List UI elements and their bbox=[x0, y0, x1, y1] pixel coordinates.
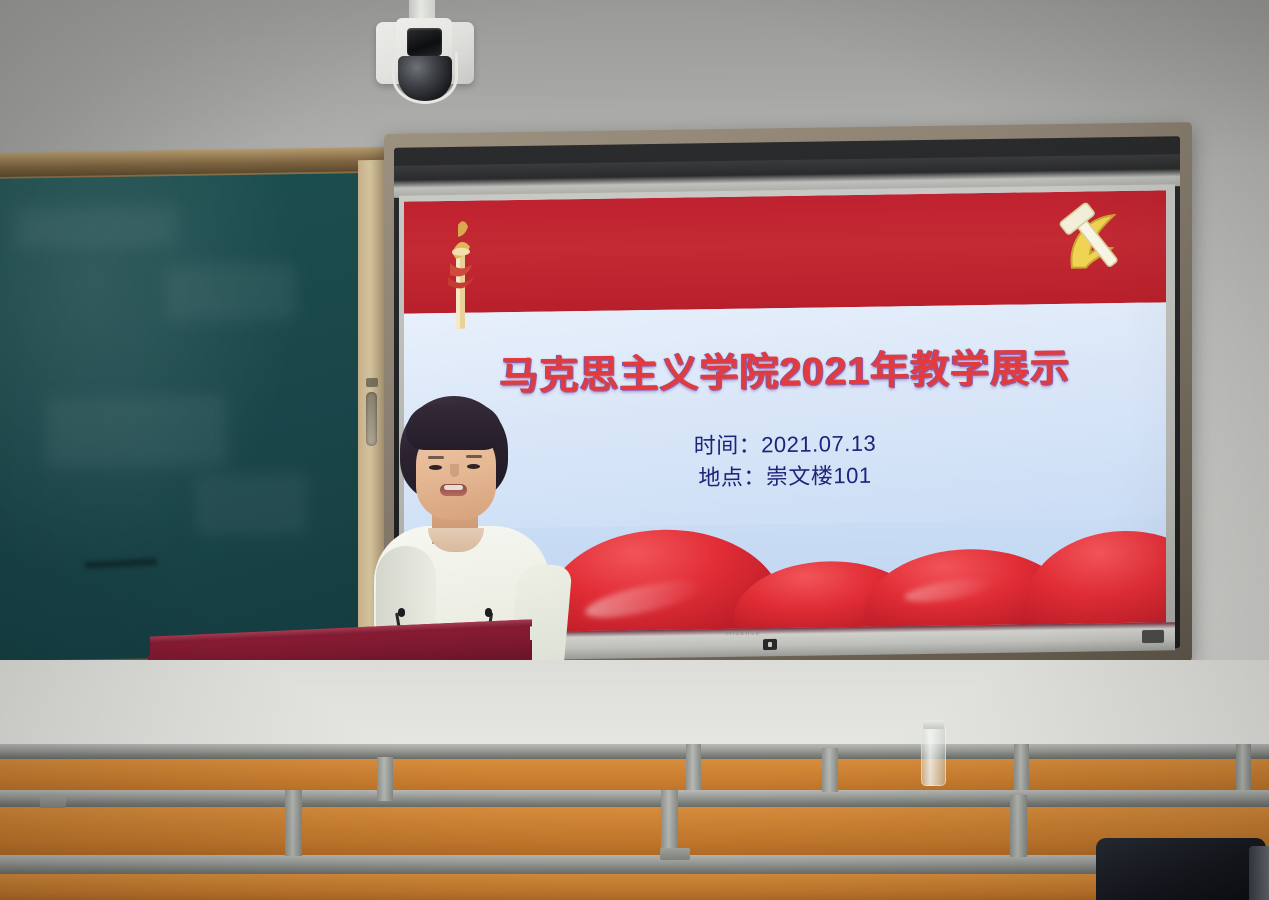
display-power-indicator bbox=[768, 642, 772, 647]
desk-bracket bbox=[660, 848, 690, 860]
desk-row-front-rail bbox=[0, 855, 1269, 875]
classroom-photo-scene: 马克思主义学院2021年教学展示 时间：2021.07.13 地点：崇文楼101… bbox=[0, 0, 1269, 900]
desk-row-middle-rail bbox=[0, 790, 1269, 807]
microphone-left-head bbox=[398, 608, 405, 617]
dark-laptop-object[interactable] bbox=[1096, 838, 1266, 900]
desk-row-front-panel bbox=[0, 874, 1269, 900]
water-bottle-cap bbox=[923, 720, 944, 729]
slide-title: 马克思主义学院2021年教学展示 bbox=[404, 335, 1166, 402]
hammer-and-sickle-icon bbox=[1052, 201, 1144, 284]
dark-object-edge bbox=[1249, 846, 1269, 900]
presenter-teeth bbox=[444, 485, 463, 490]
desk-leg bbox=[285, 790, 302, 856]
desk-bracket bbox=[40, 794, 66, 808]
desk-leg bbox=[661, 790, 678, 856]
desk-row-middle-panel bbox=[0, 805, 1269, 857]
desk-leg bbox=[1010, 795, 1027, 857]
blackboard-surface bbox=[0, 173, 358, 661]
wall-left-shading bbox=[0, 0, 380, 170]
golden-torch-icon bbox=[438, 218, 482, 329]
desk-row-back-rail bbox=[0, 744, 1269, 759]
desk-leg bbox=[377, 757, 393, 801]
presenter-nose bbox=[450, 464, 459, 477]
desk-leg bbox=[822, 748, 838, 792]
glass-water-bottle[interactable] bbox=[921, 726, 946, 786]
desk-leg bbox=[1014, 744, 1029, 790]
microphone-right-head bbox=[485, 608, 492, 617]
display-brand-label: Hisense bbox=[726, 630, 761, 638]
display-port-panel[interactable] bbox=[1142, 630, 1164, 643]
blackboard-handle-screws bbox=[366, 378, 378, 387]
desk-leg bbox=[686, 744, 701, 790]
desk-leg bbox=[1236, 744, 1251, 790]
camera-dome-ring bbox=[392, 52, 458, 104]
presenter-hair-fringe bbox=[406, 404, 502, 450]
